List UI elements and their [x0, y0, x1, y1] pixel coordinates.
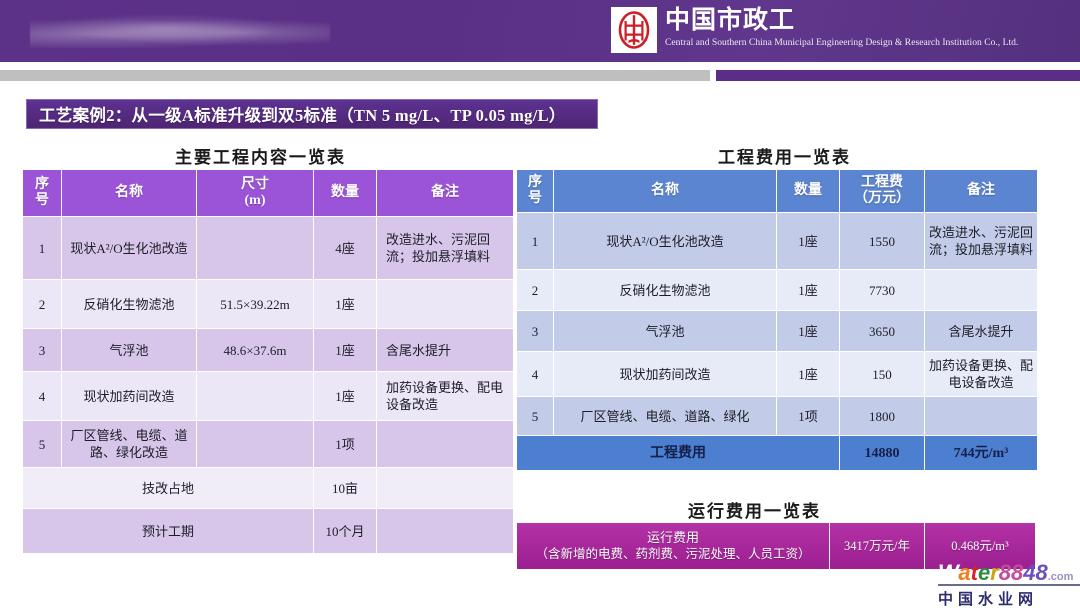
- cell-cost: 150: [840, 352, 924, 396]
- cell-qty: 1座: [314, 329, 376, 371]
- cell-cost: 3650: [840, 311, 924, 351]
- cell-name: 气浮池: [554, 311, 776, 351]
- table-total-row: 工程费用 14880 744元/m³: [517, 436, 1037, 470]
- cell-qty: 1座: [314, 372, 376, 420]
- table-summary-row: 技改占地 10亩: [23, 468, 513, 508]
- col-header-cost: 工程费 （万元）: [840, 170, 924, 212]
- operating-table-title: 运行费用一览表: [688, 497, 821, 522]
- header-divider-purple: [716, 70, 1080, 81]
- cell-no: 4: [23, 372, 61, 420]
- table-row: 3 气浮池 48.6×37.6m 1座 含尾水提升: [23, 329, 513, 371]
- col-header-remark: 备注: [377, 170, 513, 216]
- table-row: 3 气浮池 1座 3650 含尾水提升: [517, 311, 1037, 351]
- summary-label: 技改占地: [23, 468, 313, 508]
- table-header-row: 序 号 名称 尺寸 (m) 数量 备注: [23, 170, 513, 216]
- cell-qty: 1项: [314, 421, 376, 467]
- cell-qty: 1座: [314, 280, 376, 328]
- cell-no: 2: [23, 280, 61, 328]
- cell-no: 1: [23, 217, 61, 279]
- watermark-chinese-name: 中国水业网: [938, 590, 1080, 608]
- page-title: 工艺案例2：从一级A标准升级到双5标准（TN 5 mg/L、TP 0.05 mg…: [39, 102, 566, 126]
- cell-remark: [925, 397, 1037, 435]
- cell-remark: 改造进水、污泥回流；投加悬浮填料: [377, 217, 513, 279]
- cell-remark: 改造进水、污泥回流；投加悬浮填料: [925, 213, 1037, 269]
- col-header-name: 名称: [62, 170, 196, 216]
- cell-qty: 1座: [777, 270, 839, 310]
- col-header-name: 名称: [554, 170, 776, 212]
- table-row: 2 反硝化生物滤池 51.5×39.22m 1座: [23, 280, 513, 328]
- col-header-size: 尺寸 (m): [197, 170, 313, 216]
- cell-no: 5: [517, 397, 553, 435]
- total-label: 工程费用: [517, 436, 839, 470]
- cell-size: [197, 217, 313, 279]
- cell-name: 气浮池: [62, 329, 196, 371]
- wm-domain-suffix: .com: [1048, 571, 1074, 583]
- summary-qty: 10亩: [314, 468, 376, 508]
- cost-table-title: 工程费用一览表: [718, 143, 851, 168]
- col-header-remark: 备注: [925, 170, 1037, 212]
- cell-no: 3: [517, 311, 553, 351]
- operating-cost-unit: 0.468元/m³: [925, 523, 1035, 569]
- cell-cost: 7730: [840, 270, 924, 310]
- logo-english-name: Central and Southern China Municipal Eng…: [665, 36, 1018, 50]
- table-header-row: 序 号 名称 数量 工程费 （万元） 备注: [517, 170, 1037, 212]
- header-divider-gray: [0, 70, 710, 81]
- cell-remark: [377, 421, 513, 467]
- cell-qty: 1座: [777, 213, 839, 269]
- cell-qty: 4座: [314, 217, 376, 279]
- operating-cost-label-line1: 运行费用: [647, 530, 699, 545]
- cell-size: [197, 372, 313, 420]
- operating-cost-table: 运行费用 （含新增的电费、药剂费、污泥处理、人员工资） 3417万元/年 0.4…: [516, 522, 1036, 570]
- slide-title-banner: 工艺案例2：从一级A标准升级到双5标准（TN 5 mg/L、TP 0.05 mg…: [26, 99, 598, 129]
- table-row: 1 现状A²/O生化池改造 1座 1550 改造进水、污泥回流；投加悬浮填料: [517, 213, 1037, 269]
- operating-cost-annual: 3417万元/年: [830, 523, 924, 569]
- cell-name: 厂区管线、电缆、道路、绿化: [554, 397, 776, 435]
- table-row: 运行费用 （含新增的电费、药剂费、污泥处理、人员工资） 3417万元/年 0.4…: [517, 523, 1035, 569]
- summary-qty: 10个月: [314, 509, 376, 553]
- cell-name: 现状A²/O生化池改造: [62, 217, 196, 279]
- slide-root: 中国市政工 Central and Southern China Municip…: [0, 0, 1080, 608]
- logo-chinese-name: 中国市政工: [665, 7, 1018, 34]
- cell-no: 3: [23, 329, 61, 371]
- cell-name: 现状加药间改造: [62, 372, 196, 420]
- cell-remark: [377, 280, 513, 328]
- cost-table: 序 号 名称 数量 工程费 （万元） 备注 1 现状A²/O生化池改造 1座 1…: [516, 169, 1038, 471]
- slide-header: 中国市政工 Central and Southern China Municip…: [0, 0, 1080, 62]
- main-table-title: 主要工程内容一览表: [175, 143, 346, 168]
- table-row: 4 现状加药间改造 1座 150 加药设备更换、配电设备改造: [517, 352, 1037, 396]
- company-logo: 中国市政工 Central and Southern China Municip…: [611, 7, 1018, 53]
- cell-no: 4: [517, 352, 553, 396]
- summary-label: 预计工期: [23, 509, 313, 553]
- header-sheen-decoration: [30, 14, 330, 48]
- cell-name: 反硝化生物滤池: [62, 280, 196, 328]
- table-row: 4 现状加药间改造 1座 加药设备更换、配电设备改造: [23, 372, 513, 420]
- cell-name: 厂区管线、电缆、道路、绿化改造: [62, 421, 196, 467]
- cell-remark: 含尾水提升: [925, 311, 1037, 351]
- cell-qty: 1座: [777, 352, 839, 396]
- table-row: 2 反硝化生物滤池 1座 7730: [517, 270, 1037, 310]
- ccsmedri-emblem-icon: [611, 7, 657, 53]
- cell-remark: 加药设备更换、配电设备改造: [925, 352, 1037, 396]
- table-row: 5 厂区管线、电缆、道路、绿化 1项 1800: [517, 397, 1037, 435]
- col-header-qty: 数量: [314, 170, 376, 216]
- col-header-no: 序 号: [517, 170, 553, 212]
- watermark-strike-line: [938, 584, 1080, 586]
- cell-name: 现状A²/O生化池改造: [554, 213, 776, 269]
- summary-remark: [377, 468, 513, 508]
- cell-no: 1: [517, 213, 553, 269]
- operating-cost-label: 运行费用 （含新增的电费、药剂费、污泥处理、人员工资）: [517, 523, 829, 569]
- cell-qty: 1项: [777, 397, 839, 435]
- cell-size: 51.5×39.22m: [197, 280, 313, 328]
- cell-size: [197, 421, 313, 467]
- cell-remark: 加药设备更换、配电设备改造: [377, 372, 513, 420]
- cell-no: 5: [23, 421, 61, 467]
- total-cost: 14880: [840, 436, 924, 470]
- table-row: 5 厂区管线、电缆、道路、绿化改造 1项: [23, 421, 513, 467]
- table-summary-row: 预计工期 10个月: [23, 509, 513, 553]
- cell-remark: 含尾水提升: [377, 329, 513, 371]
- cell-name: 反硝化生物滤池: [554, 270, 776, 310]
- total-unit-cost: 744元/m³: [925, 436, 1037, 470]
- cell-remark: [925, 270, 1037, 310]
- cell-no: 2: [517, 270, 553, 310]
- cell-size: 48.6×37.6m: [197, 329, 313, 371]
- summary-remark: [377, 509, 513, 553]
- table-row: 1 现状A²/O生化池改造 4座 改造进水、污泥回流；投加悬浮填料: [23, 217, 513, 279]
- main-content-table: 序 号 名称 尺寸 (m) 数量 备注 1 现状A²/O生化池改造 4座 改造进…: [22, 169, 514, 554]
- col-header-no: 序 号: [23, 170, 61, 216]
- cell-qty: 1座: [777, 311, 839, 351]
- cell-cost: 1800: [840, 397, 924, 435]
- operating-cost-label-line2: （含新增的电费、药剂费、污泥处理、人员工资）: [535, 547, 810, 561]
- cell-name: 现状加药间改造: [554, 352, 776, 396]
- col-header-qty: 数量: [777, 170, 839, 212]
- cell-cost: 1550: [840, 213, 924, 269]
